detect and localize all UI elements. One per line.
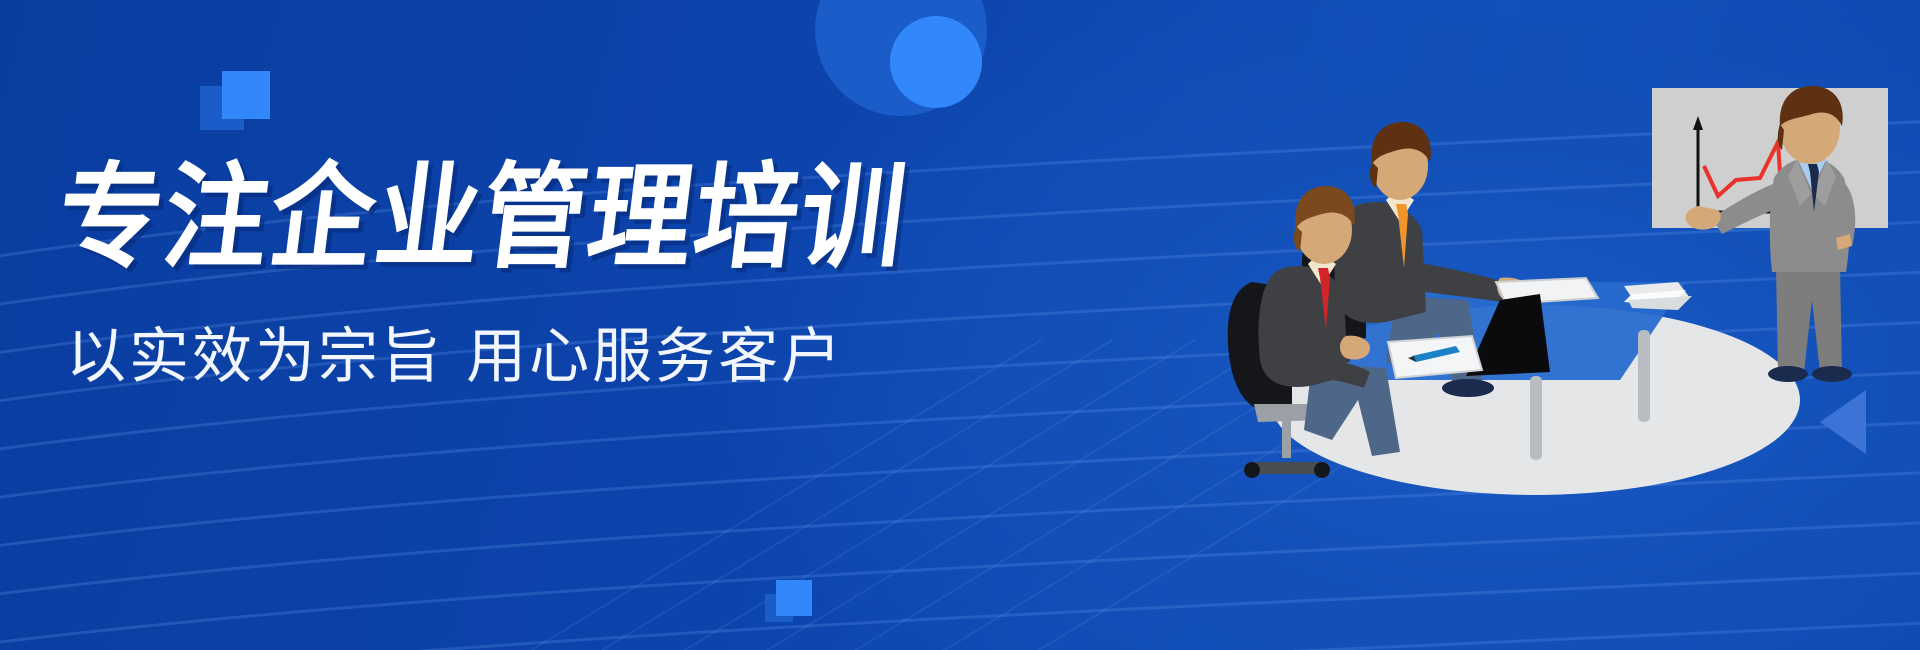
decorative-square-top-left-front [222,71,270,119]
notepad-icon [1388,336,1482,378]
banner-text-block: 专注企业管理培训 以实效为宗旨 用心服务客户 [66,158,1046,390]
decorative-square-bottom-front [776,580,812,616]
training-scene-illustration [1200,0,1920,650]
promotional-banner: 专注企业管理培训 以实效为宗旨 用心服务客户 [0,0,1920,650]
banner-subtitle: 以实效为宗旨 用心服务客户 [66,324,1046,390]
decorative-circle-small [890,16,982,108]
banner-headline: 专注企业管理培训 [51,158,1046,277]
